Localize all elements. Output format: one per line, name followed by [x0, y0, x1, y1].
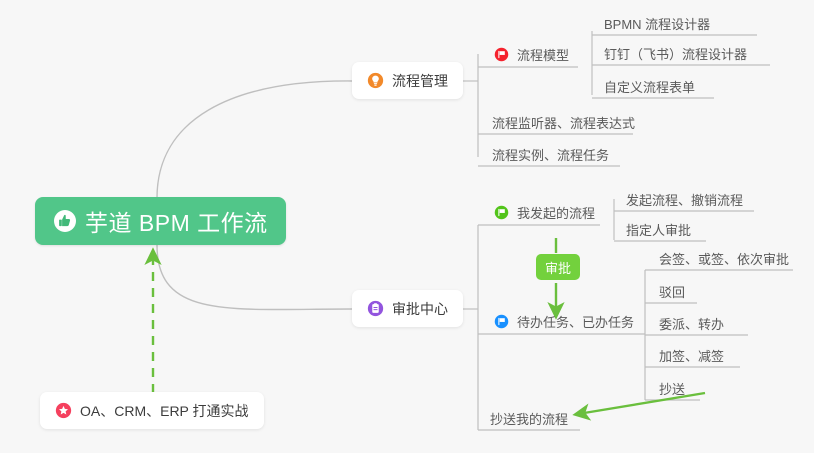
label-dingtalk-feishu-designer: 钉钉（飞书）流程设计器 [604, 44, 747, 63]
label-todo-done-tasks: 待办任务、已办任务 [517, 312, 634, 331]
label-reject: 驳回 [659, 282, 685, 301]
node-assignee-approval[interactable]: 指定人审批 [622, 216, 697, 242]
annotation-approval-tag-label: 审批 [545, 258, 571, 277]
label-countersign: 会签、或签、依次审批 [659, 249, 789, 268]
branch-node-approval-center[interactable]: 审批中心 [352, 290, 463, 327]
node-my-initiated[interactable]: 我发起的流程 [490, 199, 601, 225]
annotation-integration-note[interactable]: OA、CRM、ERP 打通实战 [40, 392, 264, 429]
label-custom-process-form: 自定义流程表单 [604, 77, 695, 96]
node-cc[interactable]: 抄送 [655, 375, 691, 401]
thumbs-up-icon [53, 209, 77, 233]
node-custom-process-form[interactable]: 自定义流程表单 [600, 73, 701, 99]
label-instance-task: 流程实例、流程任务 [492, 145, 609, 164]
node-process-model[interactable]: 流程模型 [490, 41, 575, 67]
node-listener-expression[interactable]: 流程监听器、流程表达式 [488, 109, 641, 135]
flag-icon-green [494, 205, 509, 220]
label-bpmn-designer: BPMN 流程设计器 [604, 14, 710, 33]
annotation-integration-note-label: OA、CRM、ERP 打通实战 [80, 401, 249, 421]
node-countersign[interactable]: 会签、或签、依次审批 [655, 245, 795, 271]
node-cc-to-me[interactable]: 抄送我的流程 [486, 405, 574, 431]
annotation-approval-tag[interactable]: 审批 [536, 254, 580, 280]
label-cc: 抄送 [659, 379, 685, 398]
branch-label-approval-center: 审批中心 [392, 299, 448, 319]
node-instance-task[interactable]: 流程实例、流程任务 [488, 141, 615, 167]
flag-icon-blue [494, 314, 509, 329]
node-reject[interactable]: 驳回 [655, 278, 691, 304]
branch-node-process-management[interactable]: 流程管理 [352, 62, 463, 99]
label-assignee-approval: 指定人审批 [626, 220, 691, 239]
node-dingtalk-feishu-designer[interactable]: 钉钉（飞书）流程设计器 [600, 40, 753, 66]
label-process-model: 流程模型 [517, 45, 569, 64]
node-start-cancel-process[interactable]: 发起流程、撤销流程 [622, 186, 749, 212]
label-my-initiated: 我发起的流程 [517, 203, 595, 222]
root-node[interactable]: 芋道 BPM 工作流 [35, 197, 286, 245]
node-delegate-transfer[interactable]: 委派、转办 [655, 310, 730, 336]
clipboard-icon [367, 300, 384, 317]
connector-root-to-process-management [157, 81, 352, 198]
connector-root-to-approval-center [157, 245, 352, 310]
flag-icon-red [494, 47, 509, 62]
root-node-label: 芋道 BPM 工作流 [85, 204, 268, 238]
node-bpmn-designer[interactable]: BPMN 流程设计器 [600, 10, 716, 36]
label-start-cancel-process: 发起流程、撤销流程 [626, 190, 743, 209]
branch-label-process-management: 流程管理 [392, 71, 448, 91]
star-icon [55, 402, 72, 419]
label-listener-expression: 流程监听器、流程表达式 [492, 113, 635, 132]
label-delegate-transfer: 委派、转办 [659, 314, 724, 333]
mindmap-canvas: 芋道 BPM 工作流 流程管理 流程模型 BPMN 流程设计器 钉钉（飞书）流 [0, 0, 814, 453]
node-add-remove-sign[interactable]: 加签、减签 [655, 342, 730, 368]
node-todo-done-tasks[interactable]: 待办任务、已办任务 [490, 308, 640, 334]
label-add-remove-sign: 加签、减签 [659, 346, 724, 365]
lightbulb-icon [367, 72, 384, 89]
label-cc-to-me: 抄送我的流程 [490, 409, 568, 428]
